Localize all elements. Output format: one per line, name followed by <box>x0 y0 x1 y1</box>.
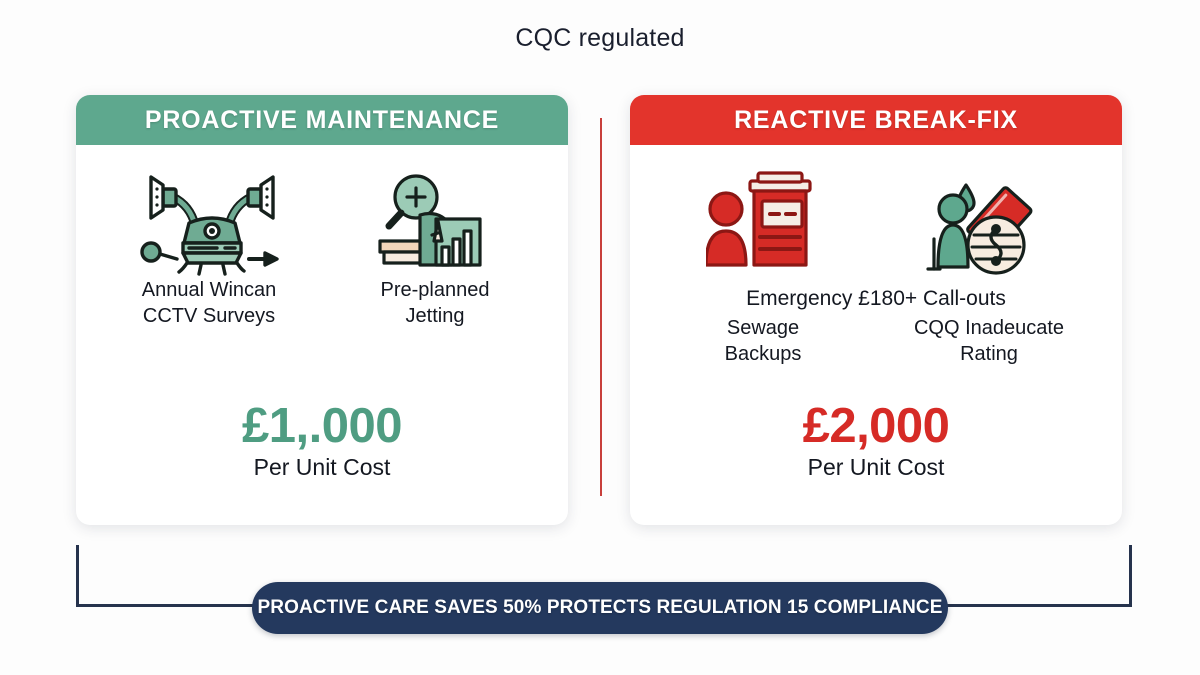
summary-banner: PROACTIVE CARE SAVES 50% PROTECTS REGULA… <box>252 582 948 634</box>
cctv-crawler-robot-icon <box>127 167 297 277</box>
label-text: Annual Wincan CCTV Surveys <box>142 279 277 327</box>
icon-row-proactive <box>76 157 568 277</box>
person-invoice-icon <box>681 167 851 277</box>
icon-row-reactive <box>630 157 1122 277</box>
price-value-proactive: £1,.000 <box>76 401 568 452</box>
wide-label-emergency-callouts: Emergency £180+ Call-outs <box>630 287 1122 311</box>
item-label-annual-wincan-cctv-surveys: Annual Wincan CCTV Surveys <box>114 277 304 330</box>
price-block-reactive: £2,000 Per Unit Cost <box>630 401 1122 481</box>
label-text: Pre-planned Jetting <box>381 279 490 327</box>
item-label-cqq-inadequate-rating: CQQ Inadeucate Rating <box>894 315 1084 368</box>
card-body-reactive: Emergency £180+ Call-outs Sewage Backups… <box>630 145 1122 525</box>
card-reactive-break-fix: REACTIVE BREAK-FIX <box>630 95 1122 525</box>
card-header-reactive: REACTIVE BREAK-FIX <box>630 95 1122 145</box>
price-block-proactive: £1,.000 Per Unit Cost <box>76 401 568 481</box>
magnifier-plus-chart-icon <box>347 167 517 277</box>
label-row-reactive: Sewage Backups CQQ Inadeucate Rating <box>630 315 1122 368</box>
price-value-reactive: £2,000 <box>630 401 1122 452</box>
card-proactive-maintenance: PROACTIVE MAINTENANCE <box>76 95 568 525</box>
label-row-proactive: Annual Wincan CCTV Surveys Pre-planned J… <box>76 277 568 330</box>
label-text: Sewage Backups <box>725 317 802 365</box>
person-rating-badge-icon <box>901 167 1071 277</box>
page-title: CQC regulated <box>0 24 1200 53</box>
card-header-proactive: PROACTIVE MAINTENANCE <box>76 95 568 145</box>
card-body-proactive: Annual Wincan CCTV Surveys Pre-planned J… <box>76 145 568 525</box>
label-text: CQQ Inadeucate Rating <box>914 317 1064 365</box>
vertical-divider <box>600 118 602 496</box>
item-label-sewage-backups: Sewage Backups <box>668 315 858 368</box>
price-caption-proactive: Per Unit Cost <box>76 454 568 481</box>
price-caption-reactive: Per Unit Cost <box>630 454 1122 481</box>
item-label-pre-planned-jetting: Pre-planned Jetting <box>340 277 530 330</box>
